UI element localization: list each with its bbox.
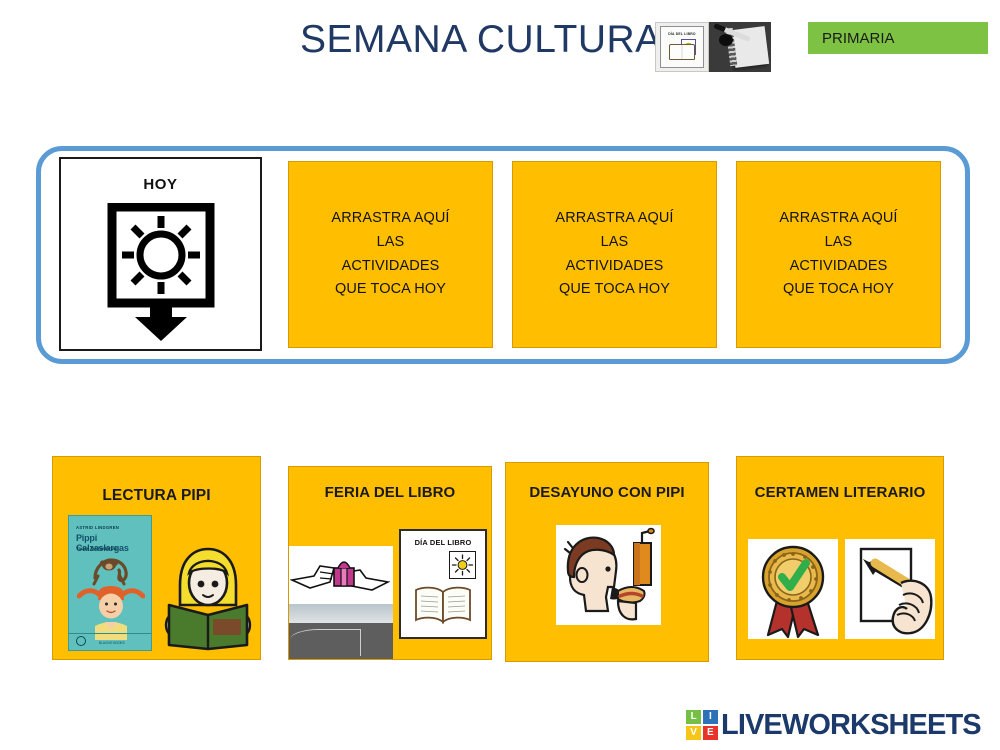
drop-zone-2[interactable]: ARRASTRA AQUÍ LAS ACTIVIDADES QUE TOCA H… (512, 161, 717, 348)
pippi-girl-illustration (77, 578, 145, 640)
publisher-logo (76, 636, 86, 646)
dia-del-libro-thumbnail: DÍA DEL LIBRO (655, 22, 709, 72)
book-day-icon: DÍA DEL LIBRO (399, 529, 487, 639)
mark-letter-e: E (703, 726, 718, 740)
hand-writing-icon (845, 539, 935, 639)
open-book-icon (412, 584, 474, 626)
drop-zone-1[interactable]: ARRASTRA AQUÍ LAS ACTIVIDADES QUE TOCA H… (288, 161, 493, 348)
award-medal-icon (748, 539, 838, 639)
liveworksheets-wordmark: LIVEWORKSHEETS (721, 709, 981, 742)
pippi-book-cover: ASTRID LINDGREN Pippi Calzaslargas Todas… (68, 515, 152, 651)
hands-gift-exchange-icon (290, 552, 390, 598)
mark-letter-i: I (703, 710, 718, 724)
sun-icon (449, 551, 476, 579)
person-eating-sandwich-icon (556, 525, 661, 625)
activity-card-feria-del-libro[interactable]: FERIA DEL LIBRO DÍA DEL LIBRO (288, 466, 492, 660)
photo-wall (288, 604, 393, 623)
today-card: HOY (59, 157, 262, 351)
notebook-pen-photo-thumbnail (709, 22, 771, 72)
activity-card-desayuno-con-pipi[interactable]: DESAYUNO CON PIPI (505, 462, 709, 662)
activity-card-lectura-pipi[interactable]: LECTURA PIPI ASTRID LINDGREN Pippi Calza… (52, 456, 261, 660)
ink-blob (719, 34, 733, 46)
page-header: SEMANA CULTURAL DÍA DEL LIBRO PRIMARIA (0, 0, 1000, 100)
book-author: ASTRID LINDGREN (76, 525, 119, 530)
page-title: SEMANA CULTURAL (300, 18, 684, 62)
picto-caption: DÍA DEL LIBRO (401, 538, 485, 547)
activity-card-certamen-literario[interactable]: CERTAMEN LITERARIO (736, 456, 944, 660)
activity-title: CERTAMEN LITERARIO (737, 484, 943, 501)
liveworksheets-logo[interactable]: L I V E LIVEWORKSHEETS (686, 708, 981, 742)
open-book-icon (669, 44, 695, 60)
thumbnail-frame: DÍA DEL LIBRO (660, 26, 704, 68)
today-label: HOY (61, 176, 260, 193)
activity-title: DESAYUNO CON PIPI (506, 484, 708, 501)
mark-letter-v: V (686, 726, 701, 740)
photo-court-line (290, 629, 361, 656)
girl-reading-icon (161, 539, 255, 651)
drop-zone-3[interactable]: ARRASTRA AQUÍ LAS ACTIVIDADES QUE TOCA H… (736, 161, 941, 348)
mark-letter-l: L (686, 710, 701, 724)
today-strip: HOY ARRASTRA AQUÍ LAS ACTIVIDADES QUE TO… (36, 146, 970, 364)
activity-title: FERIA DEL LIBRO (289, 484, 491, 501)
schoolyard-photo (288, 546, 393, 660)
activity-title: LECTURA PIPI (53, 487, 260, 505)
level-badge: PRIMARIA (808, 22, 988, 54)
cover-divider (69, 633, 151, 634)
book-subtitle: Todas las historias (76, 546, 117, 551)
thumbnail-caption: DÍA DEL LIBRO (661, 32, 703, 36)
liveworksheets-mark-icon: L I V E (686, 710, 718, 740)
book-publisher: BLACKIE BOOKS (99, 641, 125, 645)
sun-arrow-down-icon (102, 203, 220, 343)
header-thumbnails: DÍA DEL LIBRO (655, 22, 773, 72)
